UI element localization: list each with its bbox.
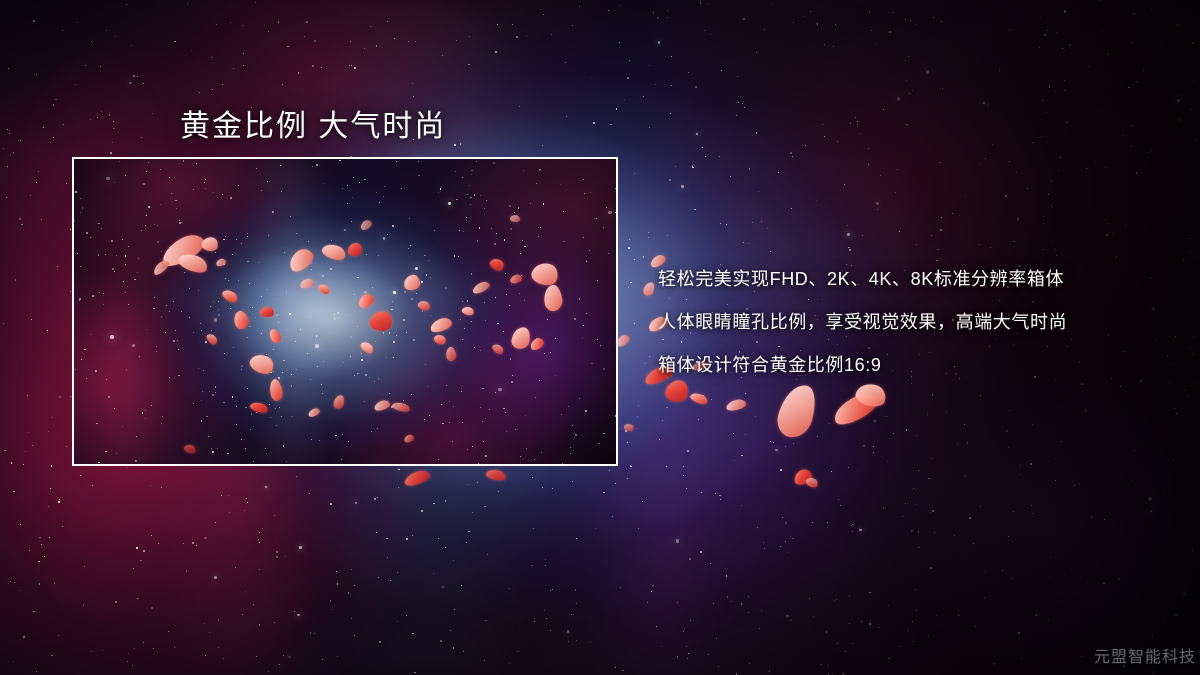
page-title: 黄金比例 大气时尚 — [180, 101, 446, 145]
panel-vignette — [72, 157, 618, 466]
slide-canvas: 黄金比例 大气时尚 轻松完美实现FHD、2K、4K、8K标准分辨率箱体 人体眼睛… — [0, 0, 1200, 675]
description-line-3: 箱体设计符合黄金比例16:9 — [658, 344, 1178, 387]
description-line-1: 轻松完美实现FHD、2K、4K、8K标准分辨率箱体 — [658, 258, 1178, 301]
watermark: 元盟智能科技 — [1094, 643, 1196, 667]
description-line-2: 人体眼睛瞳孔比例，享受视觉效果，高端大气时尚 — [658, 301, 1178, 344]
description-text: 轻松完美实现FHD、2K、4K、8K标准分辨率箱体 人体眼睛瞳孔比例，享受视觉效… — [658, 258, 1178, 387]
framed-image-panel — [72, 157, 618, 466]
